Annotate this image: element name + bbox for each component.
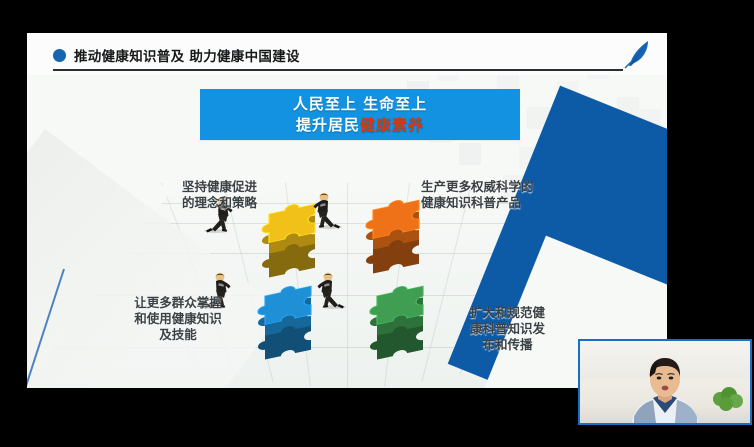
puzzle-graphic: [241, 191, 456, 371]
slide-header: 推动健康知识普及 助力健康中国建设: [27, 33, 667, 75]
slide-banner: 人民至上 生命至上 提升居民健康素养: [200, 89, 520, 140]
callout-bottom-right: 扩大和规范健 康科普知识发 布和传播: [445, 305, 570, 353]
mosaic-square: [459, 143, 481, 165]
webcam-self-view[interactable]: [578, 339, 752, 425]
pip-presenter: [622, 357, 708, 425]
callout-bottom-left: 让更多群众掌握 和使用健康知识 及技能: [103, 295, 253, 343]
callout-top-right: 生产更多权威科学的 健康知识科普产品: [421, 179, 581, 211]
banner-line-2: 提升居民健康素养: [200, 112, 520, 133]
banner-line-1: 人民至上 生命至上: [200, 89, 520, 112]
businessman-figure: [317, 271, 351, 309]
banner-line-2-prefix: 提升居民: [296, 116, 360, 134]
header-divider: [53, 69, 623, 71]
businessman-figure: [313, 191, 347, 229]
shared-slide[interactable]: 推动健康知识普及 助力健康中国建设 人民至上 生命至上 提升居民健康素养 坚持健…: [27, 33, 667, 388]
banner-line-2-highlight: 健康素养: [360, 116, 424, 134]
blue-dot-icon: [53, 49, 66, 62]
app-window: 推动健康知识普及 助力健康中国建设 人民至上 生命至上 提升居民健康素养 坚持健…: [0, 0, 754, 447]
pip-plant: [710, 385, 744, 413]
slide-title: 推动健康知识普及 助力健康中国建设: [74, 45, 300, 65]
callout-top-left: 坚持健康促进 的理念和策略: [127, 179, 257, 211]
feather-quill-icon: [621, 37, 655, 71]
puzzle-piece-green: [357, 283, 441, 361]
slide-header-row: 推动健康知识普及 助力健康中国建设: [53, 45, 300, 65]
